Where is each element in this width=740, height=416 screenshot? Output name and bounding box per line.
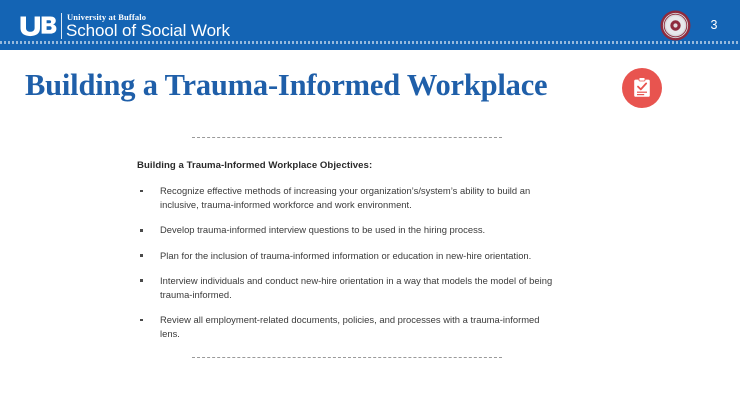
list-item: Review all employment-related documents,… (137, 313, 557, 341)
bullet-dot-icon (140, 319, 143, 322)
bullet-dot-icon (140, 190, 143, 193)
list-item-text: Recognize effective methods of increasin… (160, 185, 530, 210)
slide-canvas: University at Buffalo School of Social W… (0, 0, 740, 416)
wordmark-school: School of Social Work (66, 21, 230, 41)
header-banner: University at Buffalo School of Social W… (0, 0, 740, 50)
list-item: Develop trauma-informed interview questi… (137, 223, 557, 237)
clipboard-checklist-icon (622, 68, 662, 108)
divider-top (192, 137, 502, 138)
objectives-heading: Building a Trauma-Informed Workplace Obj… (137, 160, 372, 171)
bullet-dot-icon (140, 279, 143, 282)
list-item: Recognize effective methods of increasin… (137, 184, 557, 212)
university-seal-icon (660, 10, 691, 41)
divider-bottom (192, 357, 502, 358)
page-number: 3 (704, 18, 724, 32)
list-item-text: Interview individuals and conduct new-hi… (160, 275, 552, 300)
objectives-list: Recognize effective methods of increasin… (137, 184, 557, 342)
list-item: Plan for the inclusion of trauma-informe… (137, 249, 557, 263)
list-item-text: Review all employment-related documents,… (160, 314, 540, 339)
list-item-text: Develop trauma-informed interview questi… (160, 224, 485, 235)
bullet-dot-icon (140, 229, 143, 232)
list-item-text: Plan for the inclusion of trauma-informe… (160, 250, 531, 261)
ub-monogram-icon (19, 15, 57, 37)
banner-dotted-rule (0, 41, 740, 44)
list-item: Interview individuals and conduct new-hi… (137, 274, 557, 302)
bullet-dot-icon (140, 254, 143, 257)
logo-divider (61, 13, 62, 39)
page-title: Building a Trauma-Informed Workplace (25, 68, 547, 103)
